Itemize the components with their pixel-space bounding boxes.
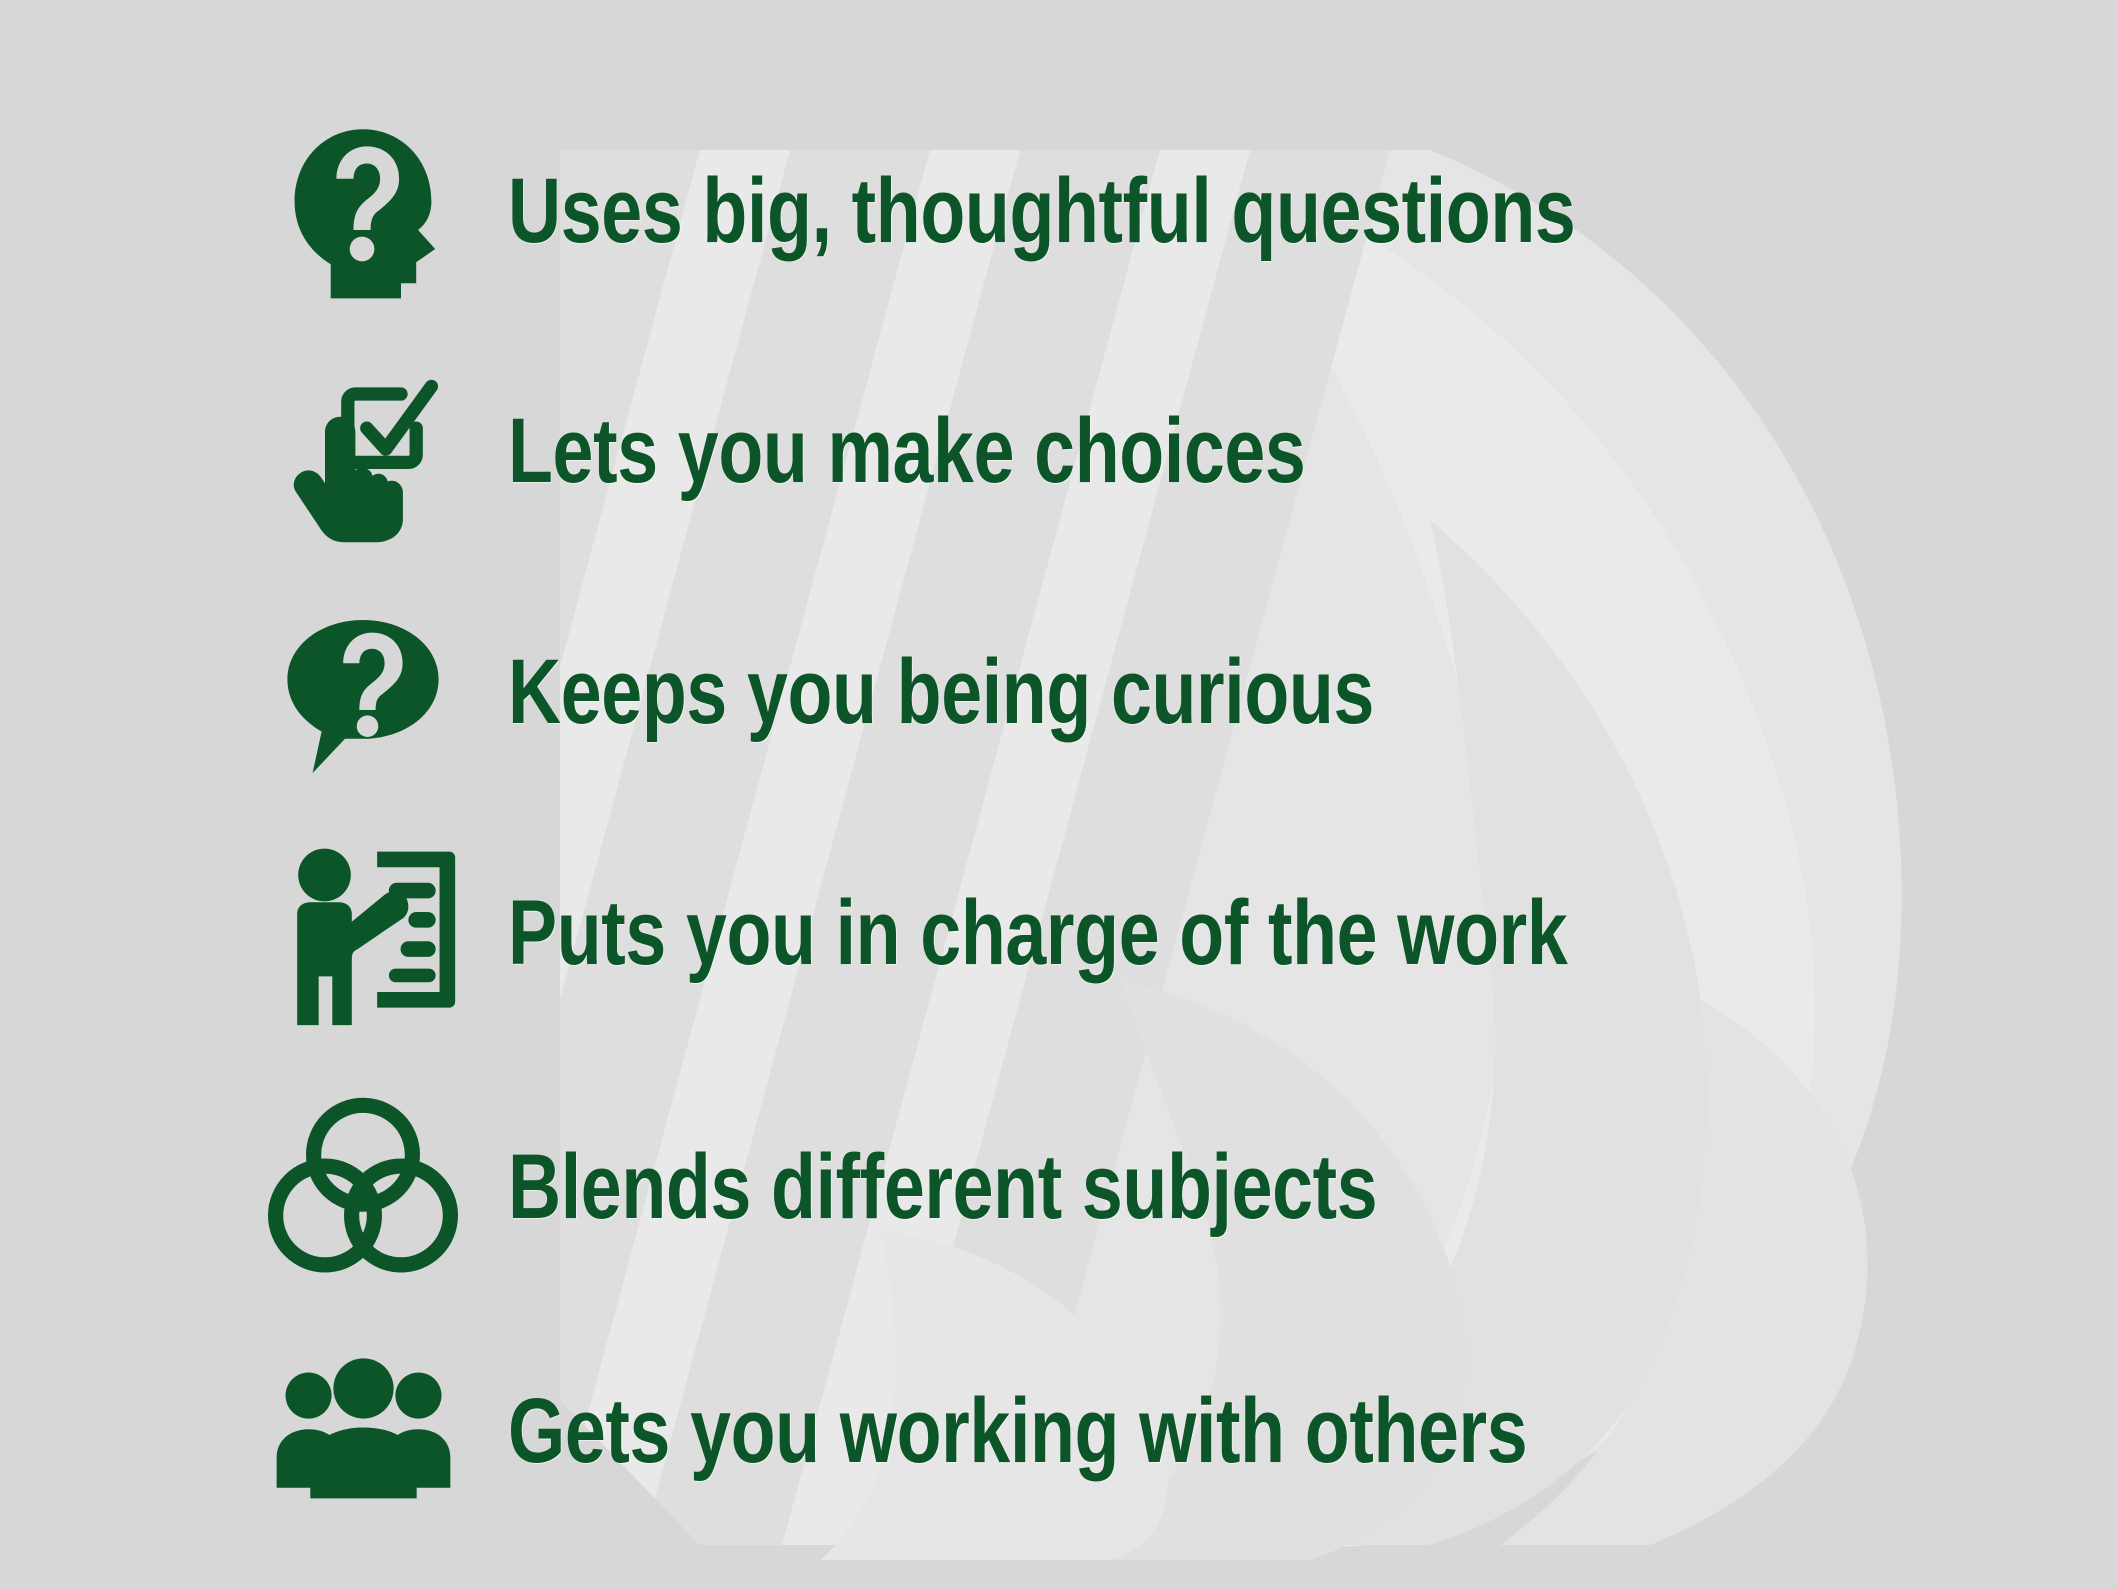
list-item-label: Blends different subjects [508, 1141, 1377, 1233]
list-item: Puts you in charge of the work [0, 808, 2118, 1058]
head-question-mark-icon [248, 111, 478, 311]
feature-list: Uses big, thoughtful questions [0, 0, 2118, 1590]
speech-bubble-question-mark-icon [248, 592, 478, 792]
group-of-people-icon [248, 1331, 478, 1531]
three-overlapping-circles-venn-icon [248, 1087, 478, 1287]
list-item-label: Keeps you being curious [508, 646, 1374, 738]
list-item: Blends different subjects [0, 1058, 2118, 1316]
list-item-label: Puts you in charge of the work [508, 887, 1567, 979]
hand-pointing-checkbox-icon [248, 351, 478, 551]
list-item: Lets you make choices [0, 326, 2118, 576]
list-item-label: Gets you working with others [508, 1385, 1527, 1477]
slide-canvas: Uses big, thoughtful questions [0, 0, 2118, 1590]
list-item: Uses big, thoughtful questions [0, 96, 2118, 326]
person-presenting-board-icon [248, 833, 478, 1033]
list-item: Gets you working with others [0, 1316, 2118, 1546]
list-item-label: Uses big, thoughtful questions [508, 165, 1575, 257]
list-item: Keeps you being curious [0, 576, 2118, 808]
list-item-label: Lets you make choices [508, 405, 1305, 497]
